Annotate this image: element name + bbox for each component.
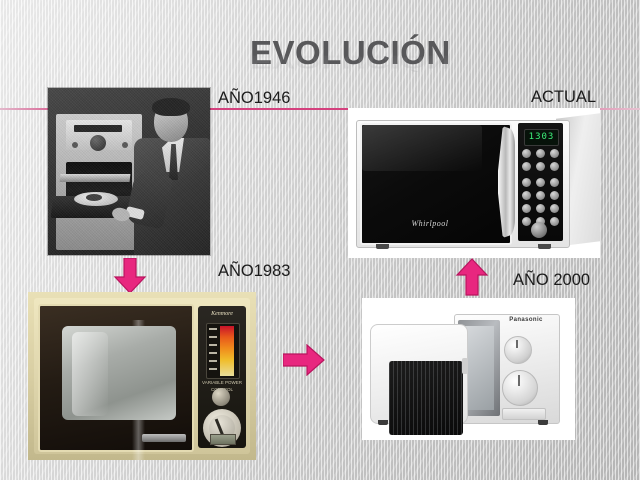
arrow-2000-to-actual: [455, 258, 489, 296]
keypad-button: [536, 162, 545, 171]
keypad-button: [550, 204, 559, 213]
page-title: EVOLUCIÓN: [250, 34, 451, 72]
oven-1983-start-window: [210, 434, 236, 445]
keypad-button: [550, 178, 559, 187]
label-year-1983: AÑO1983: [218, 262, 290, 281]
meter-tick: [209, 368, 217, 370]
keypad-button: [522, 178, 531, 187]
keypad-button: [550, 217, 559, 226]
oven-2000-door-glass: [389, 361, 463, 435]
oven-1983-meter-label: VARIABLE POWER CONTROL: [202, 379, 242, 386]
oven-2000-door-mesh: [389, 361, 463, 435]
oven-2000-foot-right: [538, 420, 548, 425]
oven-1983-power-gradient-bar: [220, 326, 234, 376]
photo-1946-film-grain: [48, 88, 210, 255]
actual-brand-logo: Whirlpool: [410, 216, 450, 232]
photo-microwave-1946: [48, 88, 210, 255]
oven-2000-timer-knob: [502, 370, 538, 406]
photo-microwave-2000: Panasonic: [362, 298, 575, 440]
timer-knob-marker: [518, 375, 520, 386]
keypad-button: [550, 162, 559, 171]
oven-1983-brand-logo: Kenmore: [202, 309, 242, 319]
keypad-button: [522, 217, 531, 226]
keypad-button: [522, 204, 531, 213]
keypad-button: [522, 162, 531, 171]
keypad-button: [522, 191, 531, 200]
arrow-1946-to-1983: [113, 258, 147, 294]
actual-control-panel: 1303: [518, 123, 563, 241]
arrow-1983-to-2000: [283, 344, 325, 376]
keypad-button: [550, 191, 559, 200]
keypad-button: [522, 149, 531, 158]
oven-2000-panel-plate: [502, 408, 546, 420]
label-year-2000: AÑO 2000: [513, 271, 590, 290]
oven-1983-power-knob: [212, 388, 230, 406]
oven-2000-door-latch: [462, 358, 468, 374]
oven-2000-foot-left: [378, 420, 388, 425]
keypad-button: [536, 178, 545, 187]
keypad-button: [536, 191, 545, 200]
oven-2000-door: [370, 324, 468, 424]
actual-jog-dial: [531, 222, 547, 238]
meter-tick: [209, 352, 217, 354]
keypad-button: [536, 204, 545, 213]
power-knob-marker: [516, 340, 518, 348]
meter-tick: [209, 360, 217, 362]
keypad-button: [550, 149, 559, 158]
oven-2000-power-knob: [504, 336, 532, 364]
actual-foot-right: [538, 244, 551, 249]
label-actual: ACTUAL: [531, 88, 596, 107]
keypad-button: [536, 149, 545, 158]
oven-1983-power-meter: [206, 323, 240, 379]
oven-2000-brand-logo: Panasonic: [500, 316, 552, 325]
meter-tick: [209, 328, 217, 330]
title-area: EVOLUCIÓN EVOLUCIÓN: [0, 34, 640, 94]
meter-tick: [209, 344, 217, 346]
actual-door-glare: [362, 125, 482, 171]
oven-1983-control-panel: Kenmore VARIABLE POWER CONTROL: [198, 306, 246, 448]
label-year-1946: AÑO1946: [218, 89, 290, 108]
photo-microwave-1983: Kenmore VARIABLE POWER CONTROL: [28, 292, 256, 460]
oven-1983-window-sheen: [72, 332, 108, 416]
actual-keypad: [522, 149, 560, 227]
meter-tick: [209, 336, 217, 338]
actual-foot-left: [376, 244, 389, 249]
oven-1983-handle: [142, 434, 186, 442]
slide-canvas: EVOLUCIÓN EVOLUCIÓN AÑO1946: [0, 0, 640, 480]
photo-microwave-actual: Whirlpool 1303: [348, 108, 600, 258]
actual-digital-display: 1303: [524, 129, 559, 146]
